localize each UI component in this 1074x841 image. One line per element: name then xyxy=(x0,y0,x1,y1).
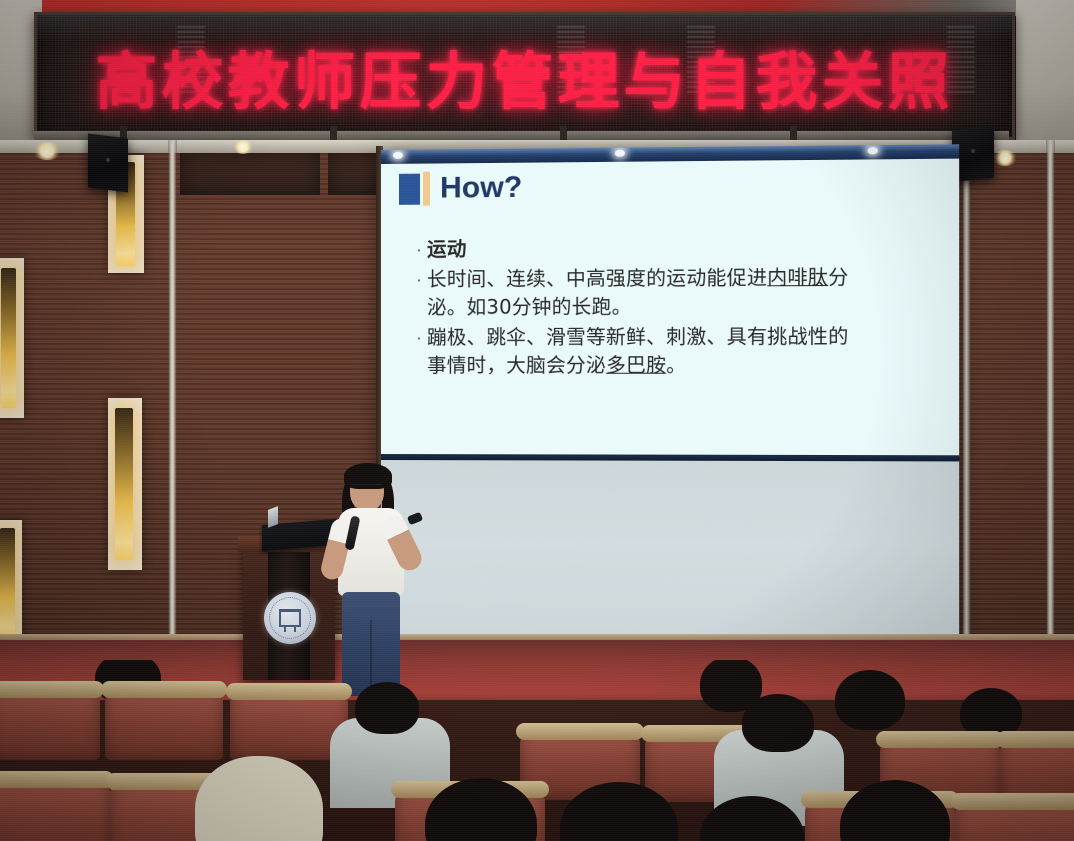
title-square-accent xyxy=(399,173,420,204)
laptop-screen xyxy=(268,506,278,528)
title-bar-accent xyxy=(423,172,430,206)
seat xyxy=(105,688,223,760)
bullet-item: · 运动 xyxy=(411,232,940,263)
projection-screen: How? · 运动 · 长时间、连续、中高强度的运动能促进内啡肽分 泌。如30分… xyxy=(381,144,959,651)
bullet-marker: · xyxy=(411,324,427,380)
upper-wall-panel xyxy=(328,153,382,195)
bullet-item: · 蹦极、跳伞、滑雪等新鲜、刺激、具有挑战性的 事情时，大脑会分泌多巴胺。 xyxy=(411,322,940,380)
wall-light-slot xyxy=(0,258,24,418)
audience-head xyxy=(355,682,419,734)
bullet-line: 泌。如30分钟的长跑。 xyxy=(427,292,849,322)
presentation-slide: How? · 运动 · 长时间、连续、中高强度的运动能促进内啡肽分 泌。如30分… xyxy=(381,144,959,461)
slide-title-row: How? xyxy=(399,171,522,206)
led-banner: 高校教师压力管理与自我关照 xyxy=(34,12,1015,140)
ceiling-right-soffit xyxy=(1016,0,1074,160)
seat xyxy=(0,688,100,760)
university-emblem xyxy=(264,592,316,644)
bullet-marker: · xyxy=(411,236,427,264)
glasses-icon xyxy=(352,484,382,492)
led-banner-text: 高校教师压力管理与自我关照 xyxy=(37,31,1012,121)
upper-wall-panel xyxy=(180,153,320,195)
bullet-line: 事情时，大脑会分泌多巴胺。 xyxy=(427,351,849,380)
ceiling-spot-light xyxy=(32,142,62,160)
bullet-line: 运动 xyxy=(427,235,467,263)
slide-title: How? xyxy=(440,173,522,204)
banner-bottom-lip xyxy=(34,131,1009,140)
wall-light-slot xyxy=(108,398,142,570)
seat xyxy=(955,800,1074,841)
slide-bullet-list: · 运动 · 长时间、连续、中高强度的运动能促进内啡肽分 泌。如30分钟的长跑。… xyxy=(411,232,940,382)
banner-bracket xyxy=(790,126,797,140)
banner-bracket xyxy=(560,126,567,140)
bullet-line: 长时间、连续、中高强度的运动能促进内啡肽分 xyxy=(427,264,849,294)
bullet-marker: · xyxy=(411,266,427,322)
audience-head xyxy=(742,694,814,752)
wall-light-slot xyxy=(0,520,22,648)
audience-hat xyxy=(195,756,323,841)
wall-seam xyxy=(168,140,177,660)
banner-bracket xyxy=(330,126,337,140)
ceiling-speaker xyxy=(88,134,128,193)
ceiling-spot-light xyxy=(232,140,254,154)
audience-head xyxy=(835,670,905,730)
wall-seam xyxy=(962,140,971,660)
auditorium-photo: 高校教师压力管理与自我关照 xyxy=(0,0,1074,841)
ceiling-spot-light xyxy=(992,150,1018,166)
bullet-line: 蹦极、跳伞、滑雪等新鲜、刺激、具有挑战性的 xyxy=(427,323,849,352)
emblem-ding-icon xyxy=(279,609,301,627)
screen-blank-area xyxy=(381,460,959,652)
seat xyxy=(0,778,110,841)
audience-area xyxy=(0,660,1074,841)
bullet-item: · 长时间、连续、中高强度的运动能促进内啡肽分 泌。如30分钟的长跑。 xyxy=(411,263,940,322)
wall-seam xyxy=(1046,140,1055,660)
presentation-clicker-icon xyxy=(407,512,423,526)
